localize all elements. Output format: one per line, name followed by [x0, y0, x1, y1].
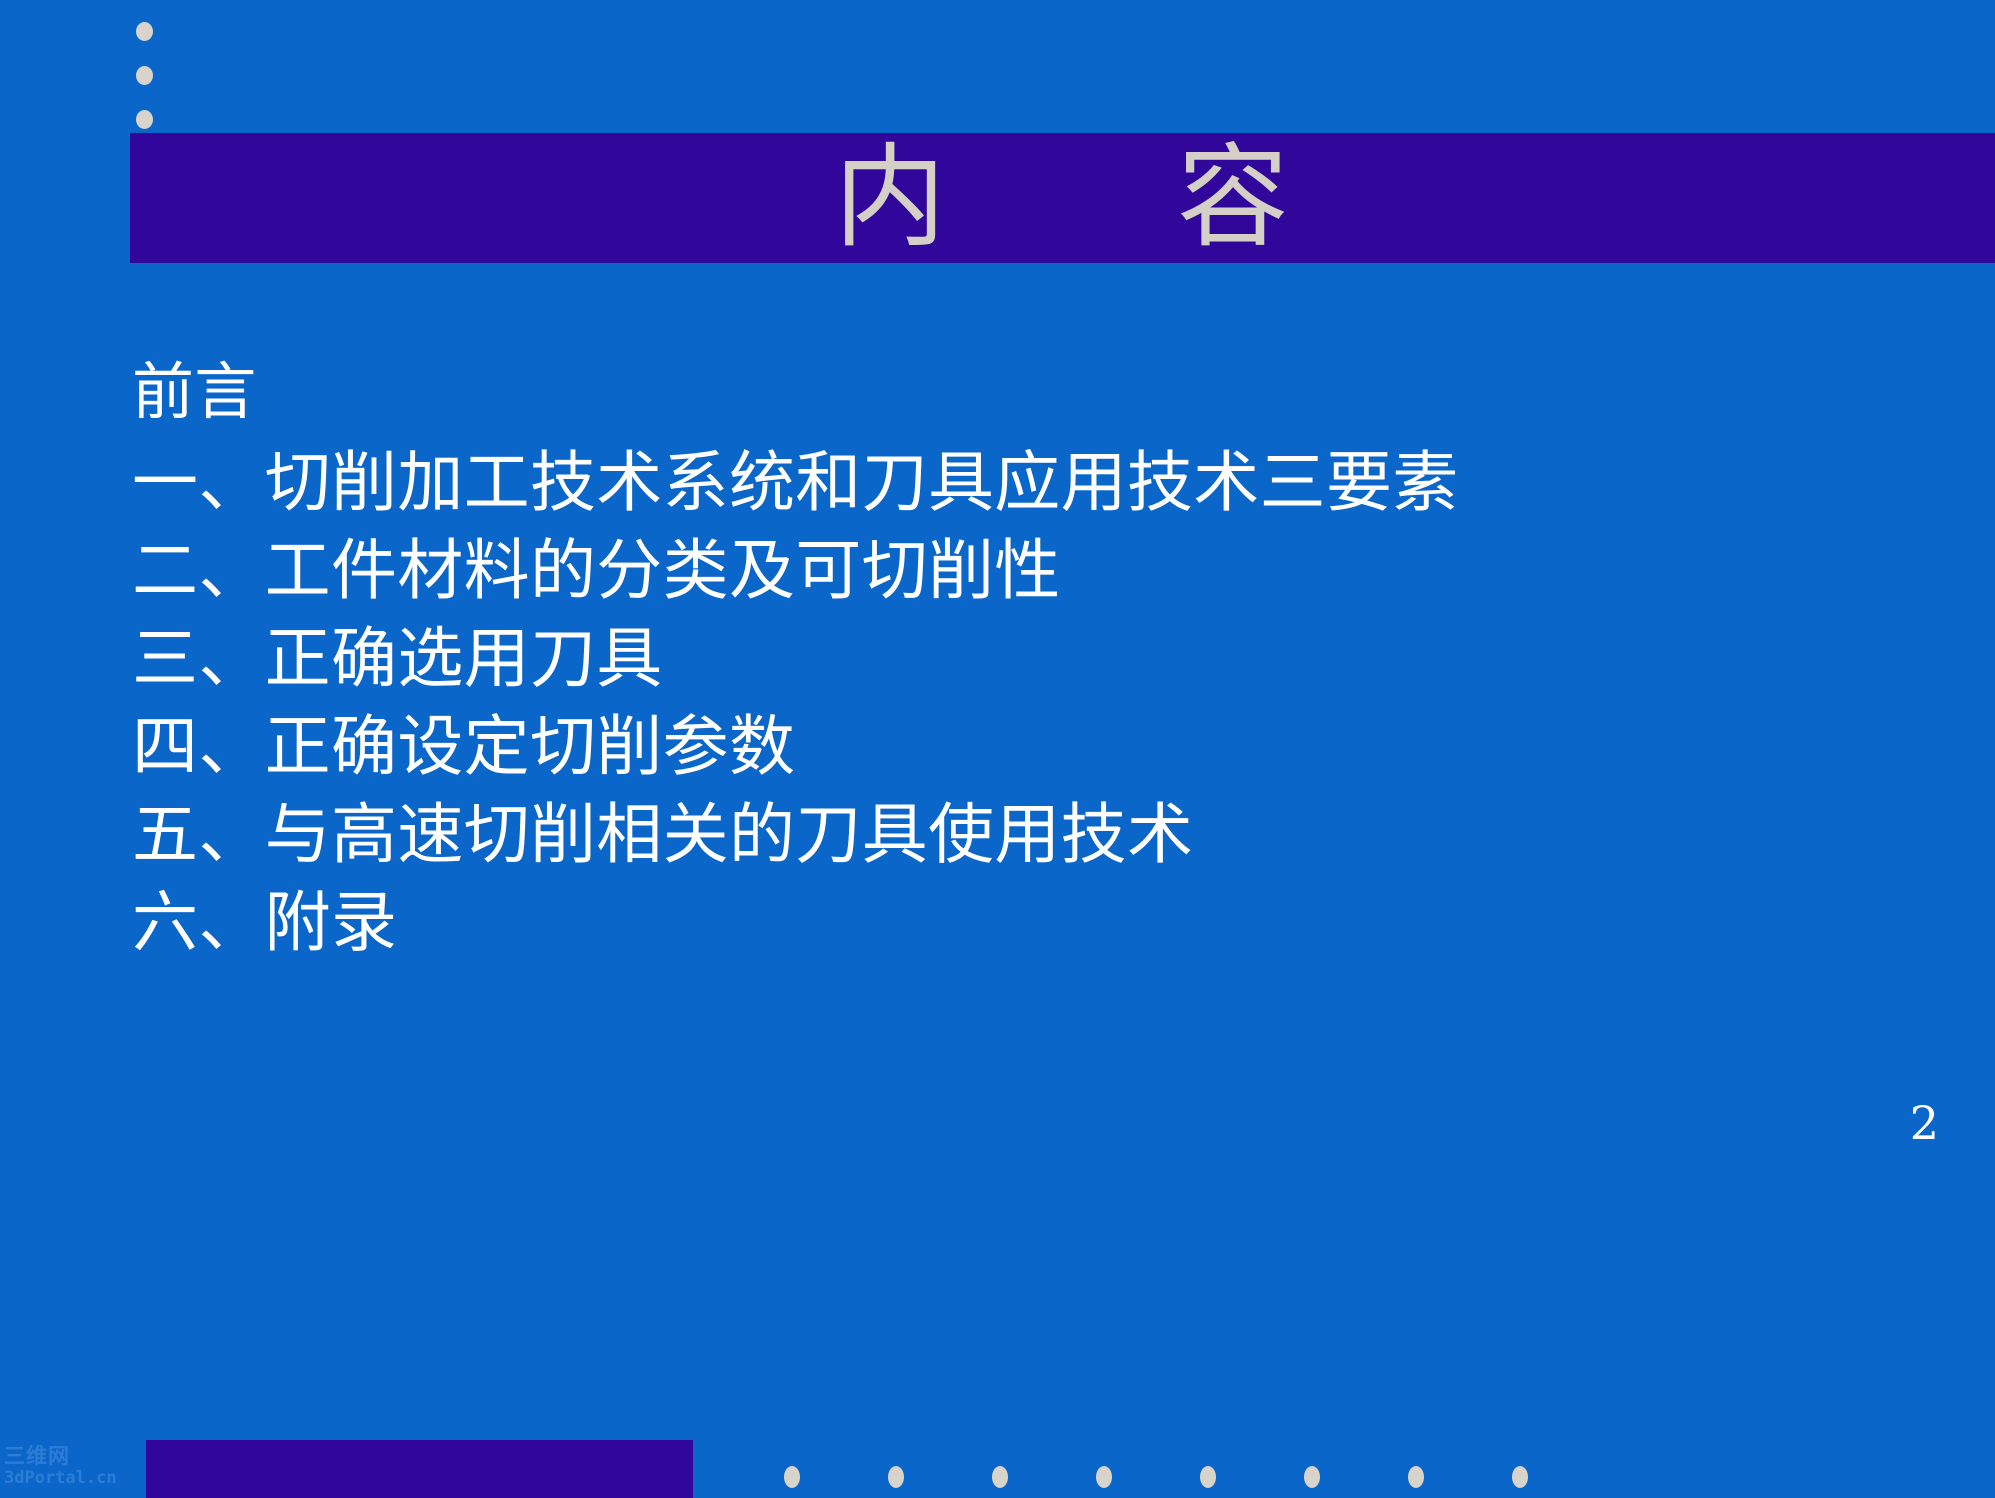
- page-number: 2: [1910, 1100, 1939, 1146]
- list-item: 二、工件材料的分类及可切削性: [132, 527, 1882, 615]
- decorative-dot-icon: [1408, 1466, 1424, 1488]
- page-title: 内 容: [130, 142, 1995, 254]
- decorative-dot-icon: [1512, 1466, 1528, 1488]
- top-dot-column: [136, 14, 158, 124]
- watermark-cn-text: 三维网: [4, 1444, 126, 1468]
- decorative-dot-icon: [1200, 1466, 1216, 1488]
- watermark-logo: 三维网 3dPortal.cn: [4, 1444, 126, 1494]
- list-item: 前言: [132, 345, 1882, 439]
- list-item: 四、正确设定切削参数: [132, 703, 1882, 791]
- title-band: 内 容: [130, 133, 1995, 263]
- decorative-dot-icon: [136, 22, 153, 41]
- decorative-dot-icon: [1304, 1466, 1320, 1488]
- decorative-dot-icon: [1096, 1466, 1112, 1488]
- list-item: 五、与高速切削相关的刀具使用技术: [132, 791, 1882, 879]
- content-list: 前言 一、切削加工技术系统和刀具应用技术三要素 二、工件材料的分类及可切削性 三…: [132, 345, 1882, 967]
- decorative-dot-icon: [136, 110, 153, 129]
- footer-dot-row: [730, 1462, 1975, 1488]
- decorative-dot-icon: [784, 1466, 800, 1488]
- slide-canvas: 内 容 前言 一、切削加工技术系统和刀具应用技术三要素 二、工件材料的分类及可切…: [0, 0, 1995, 1498]
- list-item: 六、附录: [132, 879, 1882, 967]
- decorative-dot-icon: [136, 66, 153, 85]
- list-item: 一、切削加工技术系统和刀具应用技术三要素: [132, 439, 1882, 527]
- watermark-en-text: 3dPortal.cn: [4, 1468, 126, 1488]
- list-item: 三、正确选用刀具: [132, 615, 1882, 703]
- decorative-dot-icon: [888, 1466, 904, 1488]
- decorative-dot-icon: [992, 1466, 1008, 1488]
- footer-accent-bar: [146, 1440, 693, 1498]
